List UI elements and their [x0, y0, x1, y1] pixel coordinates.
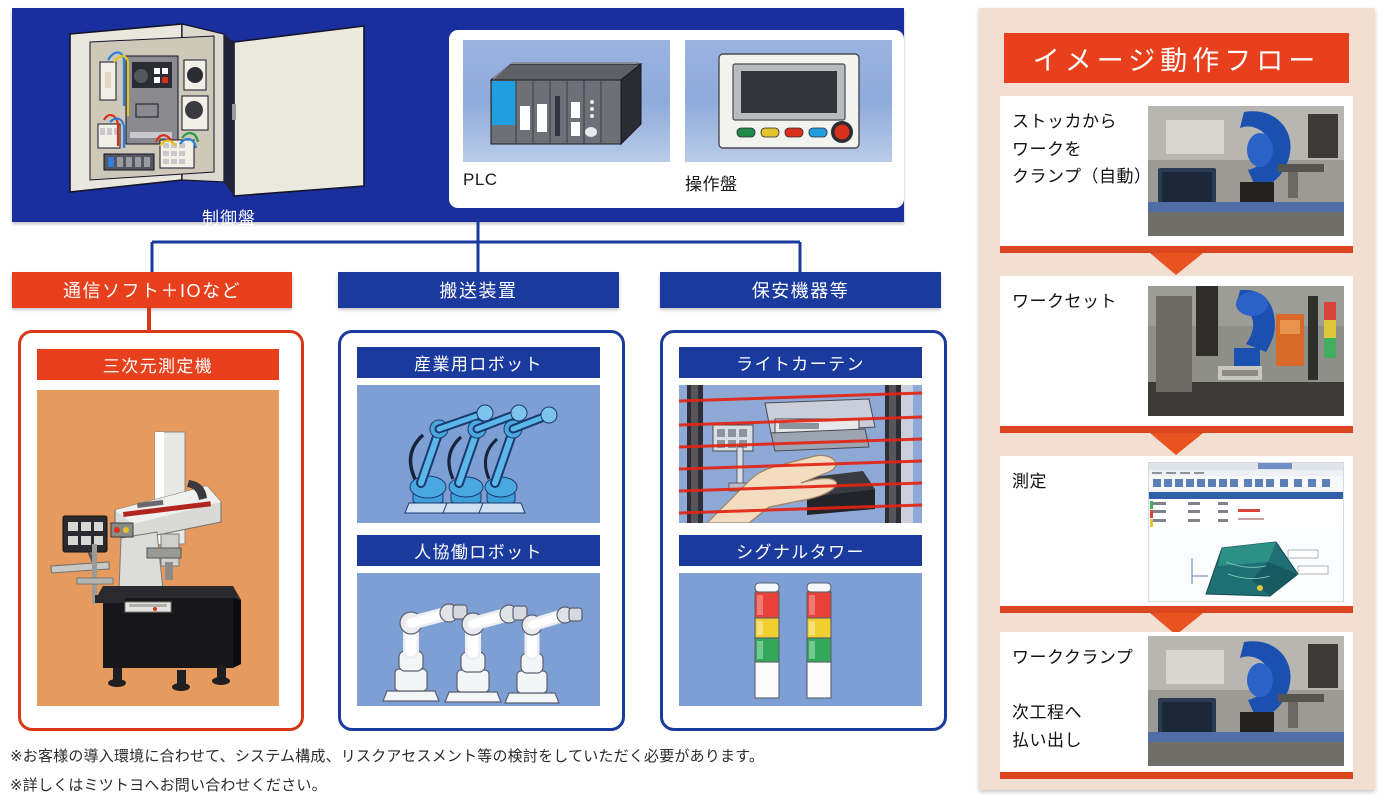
signal-tower-photo	[679, 573, 922, 706]
flow-step-1-text: ストッカから ワークを クランプ（自動）	[1000, 96, 1152, 191]
control-cabinet-illustration	[64, 20, 394, 200]
flow-arrow-1	[1000, 246, 1353, 276]
light-curtain-photo	[679, 385, 922, 523]
group-safety: ライトカーテン	[660, 330, 947, 731]
footnote-line-2: ※詳しくはミツトヨへお問い合わせください。	[10, 771, 910, 800]
group-comm: 三次元測定機	[18, 330, 304, 731]
group-conveyance: 産業用ロボット	[338, 330, 625, 731]
industrial-robot-photo	[357, 385, 600, 523]
operation-panel-label: 操作盤	[685, 170, 892, 195]
footnote-line-1: ※お客様の導入環境に合わせて、システム構成、リスクアセスメント等の検討をしていた…	[10, 742, 910, 771]
section-header-conveyance: 搬送装置	[338, 272, 619, 308]
flow-step-4-photo	[1148, 636, 1344, 766]
item-title-industrial-robot: 産業用ロボット	[357, 347, 600, 378]
collaborative-robot-photo	[357, 573, 600, 706]
flow-arrow-2	[1000, 426, 1353, 456]
device-plc: PLC	[463, 40, 670, 190]
plc-label: PLC	[463, 170, 670, 190]
flow-step-3-text: 測定	[1000, 456, 1047, 496]
flow-step-2-text: ワークセット	[1000, 276, 1117, 316]
device-operation-panel: 操作盤	[685, 40, 892, 195]
control-system-panel: 制御盤	[12, 8, 904, 222]
item-title-collaborative-robot: 人協働ロボット	[357, 535, 600, 566]
cmm-photo	[37, 390, 279, 706]
device-card: PLC 操作盤	[449, 30, 904, 208]
flow-step-2-photo	[1148, 286, 1344, 416]
plc-illustration	[463, 40, 670, 162]
footnotes: ※お客様の導入環境に合わせて、システム構成、リスクアセスメント等の検討をしていた…	[10, 742, 910, 801]
item-title-signal-tower: シグナルタワー	[679, 535, 922, 566]
section-header-safety: 保安機器等	[660, 272, 941, 308]
flow-step-1-photo	[1148, 106, 1344, 236]
item-title-cmm: 三次元測定機	[37, 349, 279, 380]
flow-step-3-photo	[1148, 462, 1344, 602]
flow-bottom-rule	[1000, 772, 1353, 779]
operation-panel-illustration	[685, 40, 892, 162]
section-header-comm: 通信ソフト＋IOなど	[12, 272, 292, 308]
item-title-light-curtain: ライトカーテン	[679, 347, 922, 378]
flow-title: イメージ動作フロー	[1004, 33, 1349, 83]
flow-step-4-text: ワーククランプ 次工程へ 払い出し	[1000, 632, 1133, 754]
